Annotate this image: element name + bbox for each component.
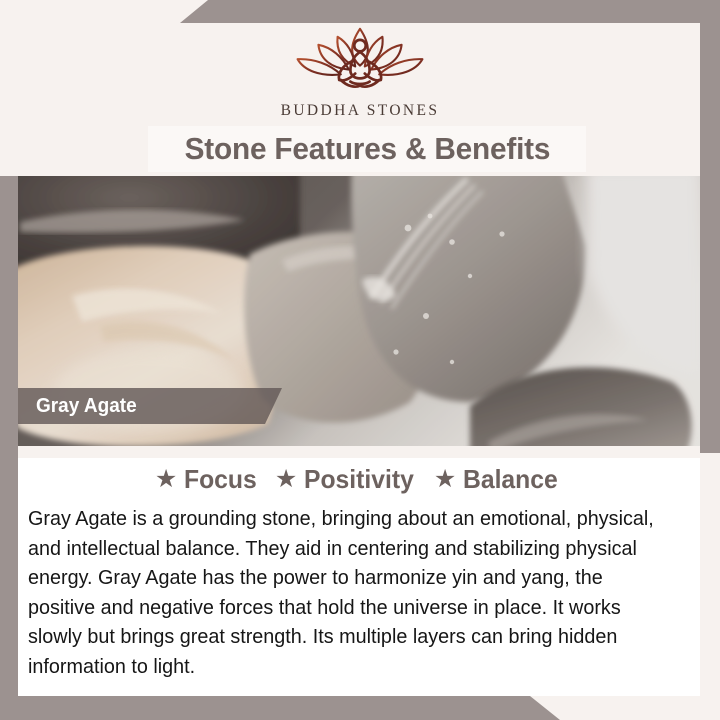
keyword-item-positivity: ★ Positivity [275, 464, 420, 495]
stone-photo: Gray Agate [0, 176, 700, 446]
frame-right-bar [700, 0, 720, 453]
keyword-item-balance: ★ Balance [434, 464, 563, 495]
brand-name: BUDDHA STONES [281, 102, 440, 120]
content-panel: ★ Focus ★ Positivity ★ Balance Gray Agat… [18, 446, 700, 696]
stone-name-text: Gray Agate [36, 395, 137, 418]
header-section: BUDDHA STONES Stone Features & Benefits [0, 0, 720, 176]
brand-logo: BUDDHA STONES [0, 24, 720, 120]
star-icon: ★ [434, 467, 456, 492]
keyword-list: ★ Focus ★ Positivity ★ Balance [18, 464, 700, 495]
keyword-label: Balance [463, 464, 558, 495]
frame-left-bar [0, 176, 18, 696]
page-title: Stone Features & Benefits [148, 126, 586, 172]
stone-description: Gray Agate is a grounding stone, bringin… [28, 504, 665, 681]
keyword-label: Focus [184, 464, 257, 495]
lotus-meditation-logo-icon [280, 24, 440, 96]
stone-info-card: BUDDHA STONES Stone Features & Benefits [0, 0, 720, 720]
stone-name-badge: Gray Agate [18, 388, 282, 424]
star-icon: ★ [155, 467, 177, 492]
panel-top-tint [18, 446, 700, 458]
keyword-label: Positivity [304, 464, 414, 495]
star-icon: ★ [275, 467, 297, 492]
frame-top-bar [180, 0, 720, 23]
page-title-text: Stone Features & Benefits [184, 131, 550, 167]
keyword-item-focus: ★ Focus [155, 464, 261, 495]
frame-bottom-bar [0, 696, 560, 720]
